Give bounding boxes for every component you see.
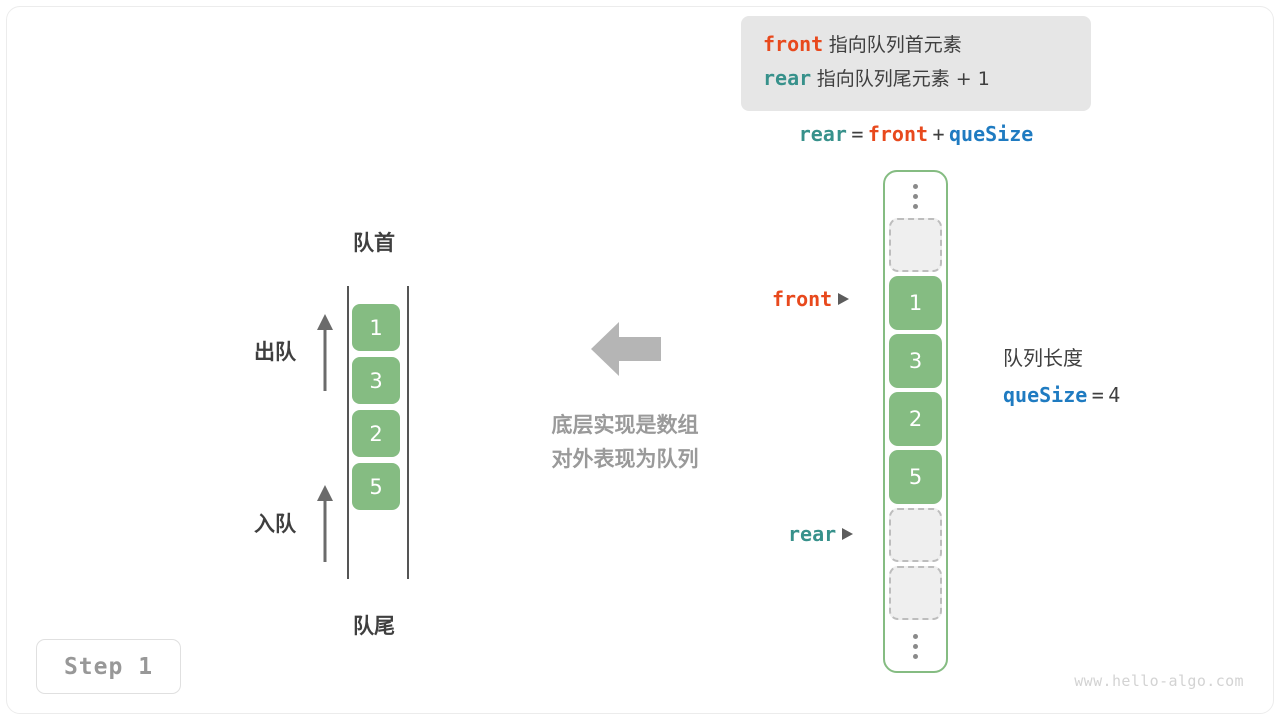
dequeue-label: 出队 <box>254 336 296 366</box>
dot <box>913 654 918 659</box>
front-keyword: front <box>763 32 823 56</box>
rear-keyword: rear <box>763 66 811 90</box>
queue-cell: 1 <box>352 304 400 351</box>
formula-front: front <box>868 122 928 146</box>
enqueue-arrow-icon <box>314 484 336 564</box>
array-cell-filled: 2 <box>889 392 942 446</box>
quesize-expression: queSize = 4 <box>1003 381 1120 412</box>
center-caption: 底层实现是数组 对外表现为队列 <box>500 408 750 476</box>
watermark: www.hello-algo.com <box>1074 672 1244 690</box>
front-description: 指向队列首元素 <box>829 34 962 56</box>
queue-rail-left <box>347 286 349 579</box>
left-arrow-icon <box>591 320 661 378</box>
pointer-definition-box: front 指向队列首元素 rear 指向队列尾元素 + 1 <box>741 16 1091 111</box>
quesize-equals: = <box>1092 383 1104 407</box>
quesize-title: 队列长度 <box>1003 343 1120 373</box>
quesize-annotation: 队列长度 queSize = 4 <box>1003 343 1120 412</box>
dot <box>913 634 918 639</box>
dequeue-arrow-icon <box>314 313 336 393</box>
queue-rail-right <box>407 286 409 579</box>
formula-quesize: queSize <box>949 122 1033 146</box>
pointer-triangle-icon <box>838 293 849 305</box>
caption-line-2: 对外表现为队列 <box>500 442 750 476</box>
dot <box>913 204 918 209</box>
step-badge: Step 1 <box>36 639 181 694</box>
ellipsis-bottom-icon <box>889 624 942 668</box>
enqueue-label: 入队 <box>254 508 296 538</box>
rear-description: 指向队列尾元素 + 1 <box>817 68 990 90</box>
info-line-front: front 指向队列首元素 <box>763 27 1091 61</box>
queue-cell: 3 <box>352 357 400 404</box>
rear-formula: rear = front + queSize <box>741 119 1091 149</box>
array-cell-empty <box>889 508 942 562</box>
dot <box>913 184 918 189</box>
queue-cell-list: 1 3 2 5 <box>352 304 400 516</box>
dot <box>913 194 918 199</box>
formula-equals: = <box>851 122 863 146</box>
array-cell-empty <box>889 218 942 272</box>
formula-plus: + <box>933 122 945 146</box>
rear-pointer: rear <box>788 522 853 546</box>
array-cell-empty <box>889 566 942 620</box>
queue-cell: 5 <box>352 463 400 510</box>
rear-pointer-label: rear <box>788 522 836 546</box>
caption-line-1: 底层实现是数组 <box>500 408 750 442</box>
front-pointer: front <box>772 287 849 311</box>
array-cell-filled: 1 <box>889 276 942 330</box>
queue-array-diagram: front 指向队列首元素 rear 指向队列尾元素 + 1 rear = fr… <box>0 0 1280 720</box>
front-pointer-label: front <box>772 287 832 311</box>
quesize-name: queSize <box>1003 383 1087 407</box>
quesize-value: 4 <box>1108 383 1120 407</box>
dot <box>913 644 918 649</box>
formula-rear: rear <box>799 122 847 146</box>
queue-cell: 2 <box>352 410 400 457</box>
array-cell-filled: 3 <box>889 334 942 388</box>
ellipsis-top-icon <box>889 174 942 218</box>
queue-tail-label: 队尾 <box>312 610 436 640</box>
queue-head-label: 队首 <box>312 227 436 257</box>
array-cell-list: 1 3 2 5 <box>889 174 942 668</box>
array-cell-filled: 5 <box>889 450 942 504</box>
pointer-triangle-icon <box>842 528 853 540</box>
info-line-rear: rear 指向队列尾元素 + 1 <box>763 61 1091 95</box>
